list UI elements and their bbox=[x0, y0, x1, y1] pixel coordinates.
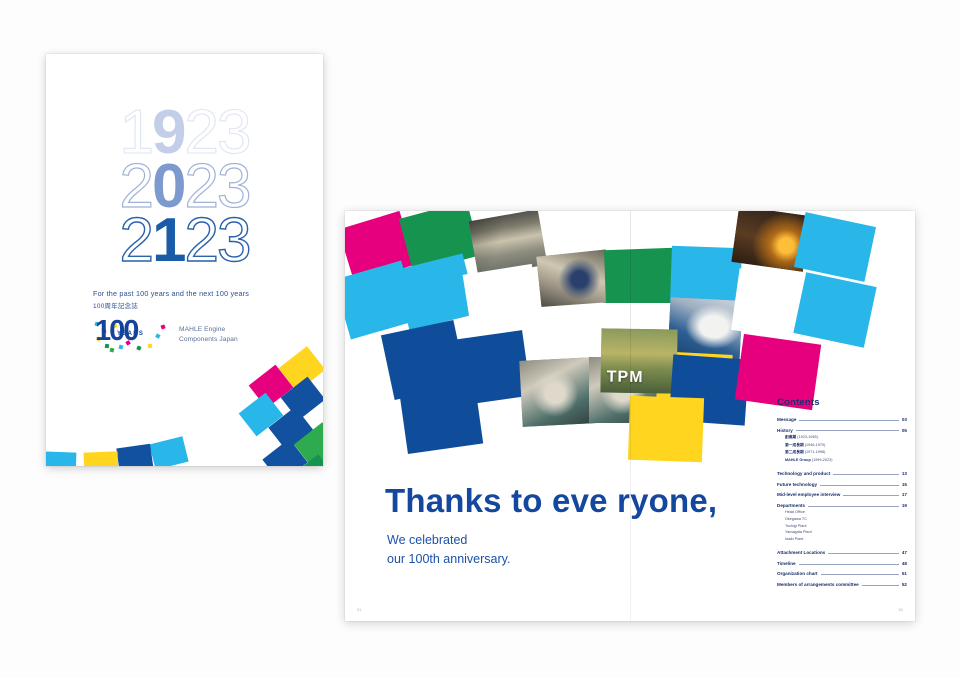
toc-spacer bbox=[777, 541, 907, 545]
toc-subentry[interactable]: Yamagata Plant bbox=[785, 530, 907, 534]
toc-subentry-strong: MAHLE Group bbox=[785, 458, 811, 462]
deco-square bbox=[116, 444, 153, 466]
headline-subtext-line2: our 100th anniversary. bbox=[387, 552, 510, 566]
toc-leader-line bbox=[799, 564, 899, 565]
cover-tagline-en: For the past 100 years and the next 100 … bbox=[93, 287, 293, 301]
toc-entry-label: Message bbox=[777, 417, 796, 422]
toc-subentry[interactable]: 第二成長期 (1971-1998) bbox=[785, 450, 907, 455]
contents-panel: Contents Message03History05創業期 (1923-194… bbox=[777, 397, 907, 587]
toc-entry-label: Mid-level employee interview bbox=[777, 492, 840, 497]
mosaic-tile-yellow bbox=[628, 396, 704, 463]
toc-leader-line bbox=[799, 420, 898, 421]
year-2123-suffix: 23 bbox=[185, 210, 250, 272]
page-number-right: 52 bbox=[899, 607, 903, 612]
toc-entry[interactable]: Technology and product13 bbox=[777, 471, 907, 476]
toc-entry[interactable]: Timeline48 bbox=[777, 561, 907, 566]
toc-entry-page: 03 bbox=[902, 417, 907, 422]
toc-subentry[interactable]: Head Office bbox=[785, 510, 907, 514]
toc-subentry[interactable]: Tochigi Plant bbox=[785, 524, 907, 528]
deco-square bbox=[46, 451, 76, 466]
toc-subentry-text: Head Office bbox=[785, 510, 805, 514]
spread-headline-block: Thanks to eve ryone, We celebrated our 1… bbox=[385, 484, 805, 569]
toc-entry[interactable]: Message03 bbox=[777, 417, 907, 422]
toc-leader-line bbox=[820, 485, 899, 486]
toc-leader-line bbox=[796, 430, 899, 431]
toc-leader-line bbox=[828, 553, 899, 554]
toc-entry-page: 47 bbox=[902, 550, 907, 555]
mosaic-photo-tpm-sign: TPM bbox=[600, 328, 677, 393]
deco-square bbox=[84, 451, 119, 466]
mosaic-tile-green bbox=[604, 248, 676, 306]
toc-entry-page: 48 bbox=[902, 561, 907, 566]
toc-leader-line bbox=[808, 506, 899, 507]
toc-entry-page: 05 bbox=[902, 428, 907, 433]
toc-leader-line bbox=[843, 495, 899, 496]
logo-company-line2: Components Japan bbox=[179, 335, 283, 345]
toc-entry-page: 51 bbox=[902, 571, 907, 576]
brochure-cover: 1923 2023 2123 For the past 100 years an… bbox=[46, 54, 323, 466]
toc-subentry-text: Yamagata Plant bbox=[785, 530, 812, 534]
toc-subentry[interactable]: 第一成長期 (1946-1970) bbox=[785, 443, 907, 448]
screenshot-canvas: 1923 2023 2123 For the past 100 years an… bbox=[0, 0, 960, 678]
toc-entry[interactable]: Departments19 bbox=[777, 503, 907, 508]
cover-tagline-jp: 100周年記念誌 bbox=[93, 301, 293, 313]
mosaic-tile-white bbox=[463, 264, 542, 336]
year-row-2123: 2123 bbox=[46, 210, 323, 272]
toc-subentry-strong: 第二成長期 bbox=[785, 450, 804, 454]
deco-square bbox=[149, 436, 188, 466]
cover-tagline: For the past 100 years and the next 100 … bbox=[93, 287, 293, 313]
toc-subentry-text: Tochigi Plant bbox=[785, 524, 807, 528]
toc-subentry[interactable]: 創業期 (1923-1945) bbox=[785, 435, 907, 440]
mosaic-photo-handwork bbox=[519, 357, 596, 427]
logo-company-name: MAHLE Engine Components Japan bbox=[179, 325, 283, 345]
toc-entry-label: Timeline bbox=[777, 561, 796, 566]
logo-company-line1: MAHLE Engine bbox=[179, 325, 283, 335]
toc-entry-label: Future technology bbox=[777, 482, 817, 487]
toc-entry-page: 13 bbox=[902, 471, 907, 476]
headline-text: Thanks to eve ryone, bbox=[385, 484, 805, 519]
logo-mark: 100 YEARS bbox=[93, 316, 181, 350]
toc-subentry-text: (1999-2023) bbox=[812, 458, 833, 462]
toc-leader-line bbox=[821, 574, 899, 575]
year-2123-highlight: 1 bbox=[152, 210, 184, 272]
toc-entry-label: History bbox=[777, 428, 793, 433]
toc-entry-page: 15 bbox=[902, 482, 907, 487]
headline-subtext: We celebrated our 100th anniversary. bbox=[387, 531, 805, 570]
mosaic-tile-cyan bbox=[670, 246, 742, 304]
toc-subentry-strong: 創業期 bbox=[785, 435, 796, 439]
toc-entry[interactable]: Organization chart51 bbox=[777, 571, 907, 576]
brochure-spread: TPM Thanks to eve ryone, We celebrated o… bbox=[345, 211, 915, 621]
toc-entry-label: Departments bbox=[777, 503, 805, 508]
tpm-sign-text: TPM bbox=[607, 368, 644, 387]
page-number-left: 51 bbox=[357, 607, 361, 612]
headline-subtext-line1: We celebrated bbox=[387, 533, 467, 547]
toc-entry-label: Technology and product bbox=[777, 471, 830, 476]
toc-subentry[interactable]: Okegawa TC bbox=[785, 517, 907, 521]
toc-subentry-text: Iwaki Plant bbox=[785, 537, 803, 541]
toc-entry-page: 19 bbox=[902, 503, 907, 508]
toc-entry-page: 17 bbox=[902, 492, 907, 497]
toc-entry[interactable]: Members of arrangements committee52 bbox=[777, 582, 907, 587]
toc-entry-label: Attachment Locations bbox=[777, 550, 825, 555]
contents-list: Message03History05創業期 (1923-1945)第一成長期 (… bbox=[777, 417, 907, 587]
toc-entry[interactable]: History05 bbox=[777, 428, 907, 433]
logo-years-label: YEARS bbox=[117, 331, 144, 337]
toc-subentry-text: (1971-1998) bbox=[805, 450, 826, 454]
year-2123-prefix: 2 bbox=[120, 210, 152, 272]
toc-entry-label: Organization chart bbox=[777, 571, 818, 576]
toc-entry[interactable]: Future technology15 bbox=[777, 482, 907, 487]
toc-entry[interactable]: Mid-level employee interview17 bbox=[777, 492, 907, 497]
toc-entry-page: 52 bbox=[902, 582, 907, 587]
toc-leader-line bbox=[833, 474, 899, 475]
toc-subentry-text: (1923-1945) bbox=[797, 435, 818, 439]
mosaic-tile-cyan bbox=[793, 272, 876, 348]
toc-spacer bbox=[777, 462, 907, 466]
mosaic-tile-navy bbox=[399, 378, 483, 454]
toc-entry[interactable]: Attachment Locations47 bbox=[777, 550, 907, 555]
toc-entry-label: Members of arrangements committee bbox=[777, 582, 859, 587]
toc-subentry-text: Okegawa TC bbox=[785, 517, 807, 521]
anniversary-years: 1923 2023 2123 bbox=[46, 102, 323, 282]
toc-leader-line bbox=[862, 585, 899, 586]
toc-subentry-strong: 第一成長期 bbox=[785, 443, 804, 447]
toc-subentry-text: (1946-1970) bbox=[805, 443, 826, 447]
anniversary-logo: 100 YEARS MAHLE Engine Components Japan bbox=[93, 316, 283, 352]
contents-title: Contents bbox=[777, 397, 907, 408]
